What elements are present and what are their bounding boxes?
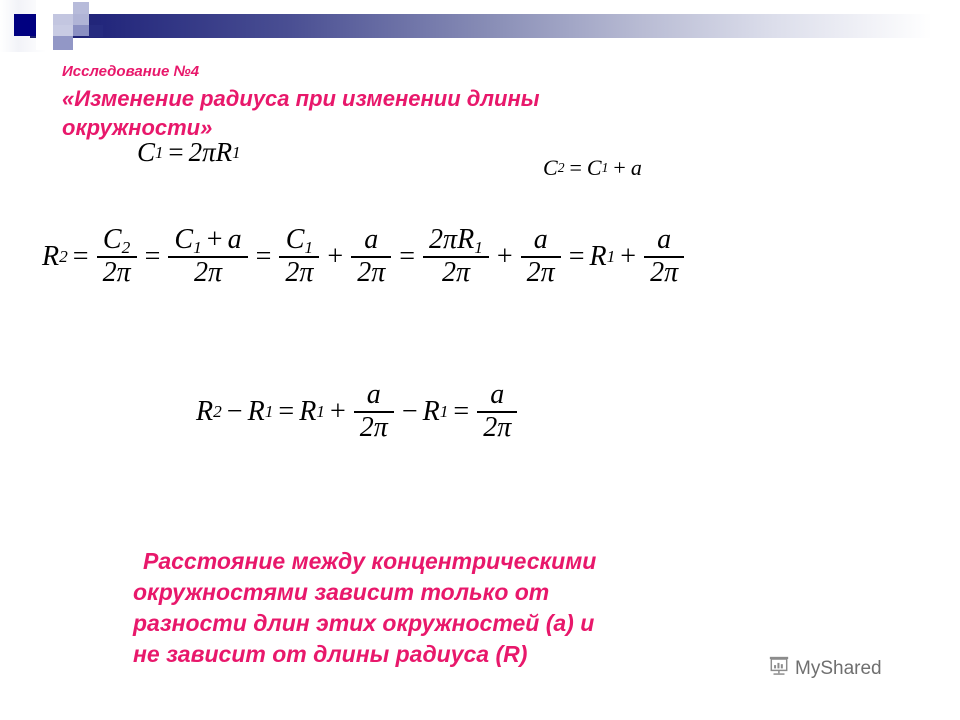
decor-square-white-mid (36, 14, 53, 36)
decor-square-navy-large (14, 14, 36, 36)
radius-diff-fraction-2: a 2π (477, 381, 517, 442)
radius-chain-frac7-numerator: a (651, 226, 677, 256)
header-decoration (0, 0, 960, 52)
formula-c2-plus: + (613, 155, 625, 181)
conclusion-line-4: не зависит от длины радиуса (R) (133, 639, 833, 670)
header-gradient-bar (30, 14, 960, 38)
radius-chain-rhs-var: R (590, 241, 607, 273)
decor-square-white-top (36, 0, 53, 14)
radius-diff-frac2-denominator: 2π (477, 413, 517, 443)
formula-c1-rhs-var: R (216, 137, 233, 168)
radius-chain-lhs-var: R (42, 241, 59, 273)
radius-chain-fraction-2: C1+a 2π (168, 226, 247, 287)
formula-c2-term-var: C (587, 155, 602, 181)
conclusion-line-3: разности длин этих окружностей (а) и (133, 608, 833, 639)
radius-chain-plus-3: + (620, 241, 636, 273)
presentation-chart-icon (768, 655, 790, 682)
decor-square-lavender-4 (73, 14, 89, 25)
radius-diff-lhs-var-2: R (248, 396, 265, 428)
radius-chain-frac2-denominator: 2π (188, 258, 228, 288)
radius-diff-eq-2: = (453, 396, 469, 428)
decor-square-white-bottom (36, 36, 53, 50)
radius-chain-frac7-denominator: 2π (644, 258, 684, 288)
radius-diff-term2-var: R (423, 396, 440, 428)
decor-square-periwinkle-2 (53, 36, 73, 50)
decor-square-periwinkle-1 (73, 25, 89, 36)
radius-chain-frac2-numerator: C1+a (168, 226, 247, 256)
radius-diff-plus-1: + (330, 396, 346, 428)
radius-diff-frac1-denominator: 2π (354, 413, 394, 443)
formula-circumference-2: C2 = C1 + a (543, 155, 642, 181)
radius-chain-plus-2: + (497, 241, 513, 273)
radius-chain-frac1-denominator: 2π (97, 258, 137, 288)
watermark-label: MyShared (795, 658, 882, 680)
radius-chain-frac4-numerator: a (358, 226, 384, 256)
radius-chain-fraction-5: 2πR1 2π (423, 226, 489, 287)
title-line-1: Исследование №4 (62, 62, 622, 82)
conclusion-line-1: Расстояние между концентрическими (133, 546, 833, 577)
conclusion-text: Расстояние между концентрическими окружн… (133, 546, 833, 670)
radius-diff-minus-2: − (402, 396, 418, 428)
radius-chain-plus-1: + (327, 241, 343, 273)
formula-c2-addend: a (631, 155, 642, 181)
formula-radius-difference: R2 − R1 = R1 + a 2π − R1 = a 2π (196, 381, 520, 442)
radius-chain-frac3-numerator: C1 (280, 226, 319, 256)
radius-chain-eq-4: = (399, 241, 415, 273)
formula-radius-chain: R2 = C2 2π = C1+a 2π = C1 2π + a 2π = 2π… (42, 226, 687, 287)
radius-diff-frac1-numerator: a (361, 381, 387, 411)
radius-diff-lhs-var-1: R (196, 396, 213, 428)
radius-chain-frac1-numerator: C2 (97, 226, 136, 256)
radius-diff-term-var: R (299, 396, 316, 428)
radius-chain-eq-3: = (256, 241, 272, 273)
radius-diff-fraction-1: a 2π (354, 381, 394, 442)
page-title: Исследование №4 «Изменение радиуса при и… (62, 62, 622, 142)
radius-diff-minus-1: − (227, 396, 243, 428)
radius-chain-frac3-denominator: 2π (279, 258, 319, 288)
title-line-2: «Изменение радиуса при изменении длины о… (62, 84, 622, 142)
radius-chain-fraction-1: C2 2π (97, 226, 137, 287)
decor-square-lavender-1 (73, 2, 89, 14)
radius-chain-fraction-7: a 2π (644, 226, 684, 287)
radius-diff-frac2-numerator: a (484, 381, 510, 411)
conclusion-line-2: окружностями зависит только от (133, 577, 833, 608)
radius-chain-frac5-denominator: 2π (436, 258, 476, 288)
radius-chain-eq-2: = (145, 241, 161, 273)
formula-c1-equals: = (168, 137, 183, 168)
radius-chain-frac6-numerator: a (528, 226, 554, 256)
decor-square-lavender-3 (53, 25, 73, 36)
formula-circumference-1: C1 = 2πR1 (137, 137, 241, 168)
radius-chain-eq-1: = (73, 241, 89, 273)
radius-chain-frac4-denominator: 2π (351, 258, 391, 288)
watermark: MyShared (768, 655, 882, 682)
formula-c1-pi: π (202, 137, 216, 168)
radius-chain-frac5-numerator: 2πR1 (423, 226, 489, 256)
formula-c2-equals: = (570, 155, 582, 181)
decor-square-lavender-2 (53, 14, 73, 25)
formula-c2-lhs-var: C (543, 155, 558, 181)
radius-chain-eq-5: = (569, 241, 585, 273)
radius-chain-frac6-denominator: 2π (521, 258, 561, 288)
radius-chain-fraction-3: C1 2π (279, 226, 319, 287)
radius-diff-eq-1: = (278, 396, 294, 428)
formula-c1-lhs-var: C (137, 137, 155, 168)
radius-chain-fraction-4: a 2π (351, 226, 391, 287)
radius-chain-fraction-6: a 2π (521, 226, 561, 287)
decor-square-navy-small (89, 25, 103, 37)
formula-c1-coefficient: 2 (189, 137, 203, 168)
